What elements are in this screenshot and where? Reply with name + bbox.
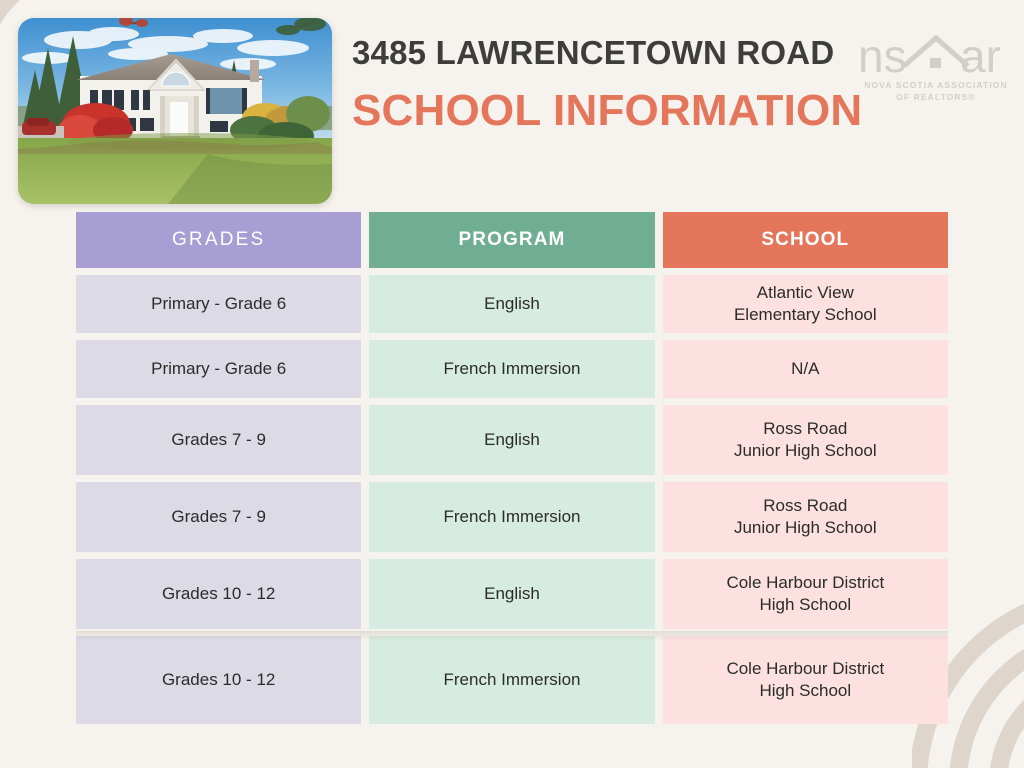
cell-school: N/A [663,340,948,398]
cell-program: English [369,275,654,333]
property-photo-image [18,18,332,204]
page-title: 3485 LAWRENCETOWN ROAD [352,36,992,71]
cell-school: Ross Road Junior High School [663,405,948,475]
cell-program: French Immersion [369,482,654,552]
cell-grades: Primary - Grade 6 [76,340,361,398]
table-row: Grades 10 - 12 French Immersion Cole Har… [76,636,948,724]
table-row: Primary - Grade 6 English Atlantic View … [76,275,948,333]
column-header-grades: GRADES [76,212,361,268]
cell-program: English [369,405,654,475]
cell-grades: Grades 10 - 12 [76,636,361,724]
cell-school: Atlantic View Elementary School [663,275,948,333]
cell-program: French Immersion [369,340,654,398]
cell-program: French Immersion [369,636,654,724]
cell-program: English [369,559,654,629]
section-title: SCHOOL INFORMATION [352,89,992,133]
table-row: Grades 7 - 9 French Immersion Ross Road … [76,482,948,552]
cell-school: Cole Harbour District High School [663,559,948,629]
cell-grades: Primary - Grade 6 [76,275,361,333]
cell-grades: Grades 10 - 12 [76,559,361,629]
property-photo [18,18,332,204]
cell-grades: Grades 7 - 9 [76,482,361,552]
column-header-program: PROGRAM [369,212,654,268]
table-row: Grades 10 - 12 English Cole Harbour Dist… [76,559,948,629]
table-row: Grades 7 - 9 English Ross Road Junior Hi… [76,405,948,475]
cell-school: Cole Harbour District High School [663,636,948,724]
cell-grades: Grades 7 - 9 [76,405,361,475]
table-header-row: GRADES PROGRAM SCHOOL [76,212,948,268]
school-information-table: GRADES PROGRAM SCHOOL Primary - Grade 6 … [76,212,948,731]
cell-school: Ross Road Junior High School [663,482,948,552]
table-row: Primary - Grade 6 French Immersion N/A [76,340,948,398]
title-block: 3485 LAWRENCETOWN ROAD SCHOOL INFORMATIO… [352,36,992,133]
column-header-school: SCHOOL [663,212,948,268]
slide-canvas: ns ar NOVA SCOTIA ASSOCIATION OF REALTOR… [0,0,1024,768]
